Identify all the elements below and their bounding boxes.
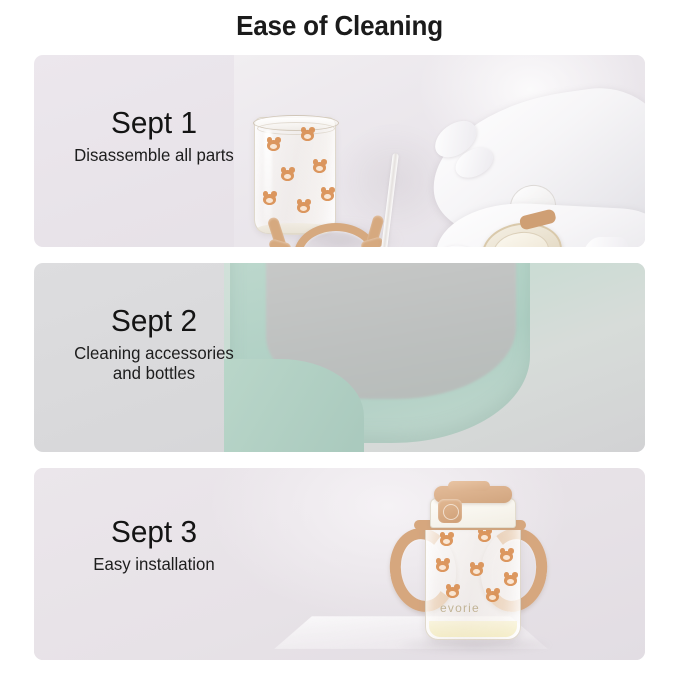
step-2-description: Cleaning accessories and bottles: [39, 343, 269, 384]
step-panel-2: evorie Sept 2 Cleaning accessor: [34, 263, 645, 452]
brand-label: evorie: [440, 601, 480, 615]
bear-face-icon: [436, 561, 449, 572]
bear-face-icon: [446, 587, 459, 598]
bear-face-icon: [478, 531, 491, 542]
bear-face-icon: [504, 575, 517, 586]
bear-face-icon: [281, 170, 294, 181]
step-2-description-line-2: and bottles: [39, 363, 269, 384]
step-2-text-block: Sept 2 Cleaning accessories and bottles: [34, 305, 274, 384]
glove-finger: [437, 242, 486, 247]
step-3-text-block: Sept 3 Easy installation: [34, 516, 274, 574]
step-3-description: Easy installation: [39, 554, 269, 575]
step-panel-3: evorie Sept 3 Easy installation: [34, 468, 645, 660]
step-3-title: Sept 3: [39, 516, 269, 549]
tan-handle-ring: [266, 215, 384, 247]
infographic-page: Ease of Cleaning: [0, 0, 679, 679]
step-2-description-line-1: Cleaning accessories: [39, 343, 269, 364]
bottle-liquid: [429, 621, 517, 637]
step-1-text-block: Sept 1 Disassemble all parts: [34, 107, 274, 165]
lid-latch-button: [438, 499, 462, 523]
step-2-title: Sept 2: [39, 305, 269, 338]
bear-face-icon: [313, 162, 326, 173]
bear-face-icon: [440, 535, 453, 546]
bear-face-icon: [301, 130, 314, 141]
bear-face-icon: [321, 190, 334, 201]
step-1-title: Sept 1: [39, 107, 269, 140]
page-title: Ease of Cleaning: [24, 10, 655, 42]
bear-face-icon: [486, 591, 499, 602]
flip-lid-top: [448, 481, 490, 491]
bear-face-icon: [500, 551, 513, 562]
step-panel-1: Sept 1 Disassemble all parts: [34, 55, 645, 247]
bear-face-icon: [297, 202, 310, 213]
bear-face-icon: [263, 194, 276, 205]
step-1-description: Disassemble all parts: [39, 145, 269, 166]
assembled-bottle-body: evorie: [425, 520, 521, 640]
lid-inner-seal: [491, 228, 552, 247]
bear-face-icon: [470, 565, 483, 576]
